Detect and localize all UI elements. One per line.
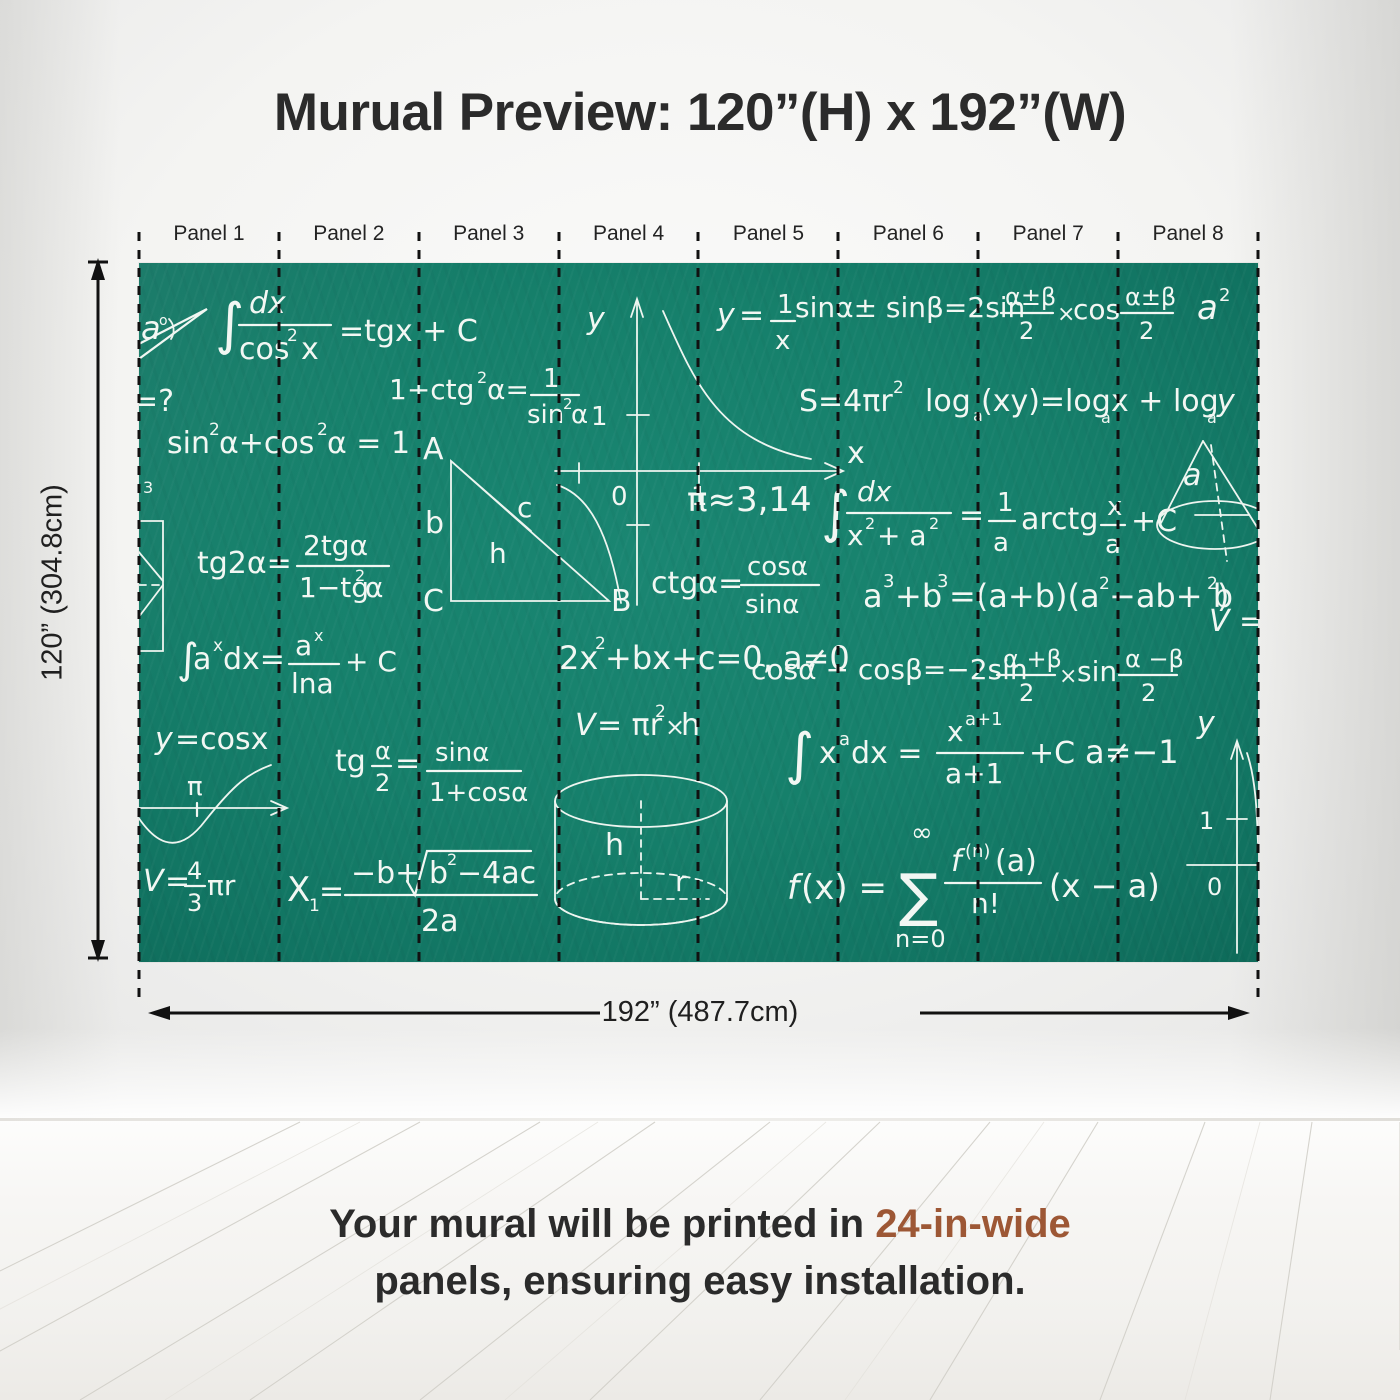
svg-text:a: a (1183, 458, 1201, 493)
svg-text:2: 2 (287, 326, 298, 346)
svg-text:2: 2 (865, 514, 875, 533)
svg-text:α −β: α −β (1125, 645, 1184, 673)
svg-text:tg: tg (335, 744, 366, 779)
svg-text:a: a (141, 309, 161, 347)
height-dimension-label: 120” (304.8cm) (37, 418, 70, 748)
svg-text:∑: ∑ (899, 861, 938, 929)
formula-sum-of-cubes: a 3 +b 3 =(a+b)(a 2 −ab+ b 2 ) (863, 571, 1233, 615)
formula-tangent-double-angle: tg2α= 2tgα 1−tg 2 α (197, 529, 389, 604)
page-title: Murual Preview: 120”(H) x 192”(W) (0, 82, 1400, 143)
svg-text:2: 2 (375, 769, 390, 797)
svg-text:a: a (193, 642, 211, 677)
svg-text:sinα: sinα (745, 590, 799, 620)
figure-right-triangle-abc: A b c h C B (423, 432, 632, 619)
svg-text:x: x (947, 715, 964, 748)
formula-half-angle-tangent: tg α 2 = sinα 1+cosα (335, 737, 528, 808)
svg-text:−4ac: −4ac (457, 856, 536, 891)
svg-text:+ C: + C (345, 645, 397, 678)
svg-text:C: C (423, 584, 444, 619)
figure-hyperbola-graph: y x 1 0 1 y = 1 x (555, 290, 865, 605)
svg-text:2: 2 (1139, 317, 1154, 345)
svg-text:y: y (154, 722, 174, 757)
formula-cosine-function: y =cosx (154, 722, 268, 757)
svg-text:=(a+b)(a: =(a+b)(a (949, 577, 1100, 615)
svg-text:2: 2 (447, 850, 457, 869)
svg-text:y: y (1196, 706, 1216, 741)
svg-text:V: V (143, 864, 166, 899)
svg-text:n=0: n=0 (895, 925, 946, 953)
caption-line-2: panels, ensuring easy installation. (0, 1253, 1400, 1310)
svg-text:n!: n! (971, 887, 1000, 920)
mural-preview-chalkboard: a o =? sin 2 α+cos 2 α = 1 l 3 tg2α= 2tg… (139, 263, 1258, 962)
formula-integral-arctan: ∫ dx x 2 + a 2 = 1 a arctg x a +C (821, 475, 1177, 560)
svg-text:a: a (1101, 408, 1111, 427)
svg-text:y: y (586, 302, 606, 337)
svg-text:x + log: x + log (1111, 384, 1219, 419)
svg-text:f: f (951, 844, 966, 879)
formula-equals-question: =? (139, 384, 174, 419)
wall-shadow-bottom (0, 1028, 1400, 1118)
svg-text:+ a: + a (877, 519, 927, 552)
svg-text:a: a (863, 577, 883, 615)
svg-text:x: x (847, 436, 865, 471)
svg-text:sinα± sinβ=2sin: sinα± sinβ=2sin (795, 291, 1025, 324)
caption-line-1-text: Your mural will be printed in (329, 1202, 875, 1246)
svg-text:2: 2 (355, 566, 365, 585)
svg-text:x: x (847, 519, 864, 552)
svg-text:π: π (187, 772, 203, 802)
svg-text:y: y (1216, 384, 1236, 419)
svg-text:a≠−1: a≠−1 (1085, 733, 1179, 771)
svg-text:log: log (925, 384, 971, 419)
formula-sine-sum-product: sinα± sinβ=2sin α±β 2 × cos α±β 2 a 2 (795, 283, 1230, 345)
svg-text:1: 1 (591, 402, 608, 432)
svg-text:α±β: α±β (1125, 283, 1176, 311)
svg-text:y: y (716, 298, 736, 333)
caption-highlight: 24-in-wide (875, 1202, 1071, 1246)
svg-text:X: X (287, 870, 310, 910)
width-dimension-label: 192” (487.7cm) (0, 996, 1400, 1029)
figure-cylinder: h r (555, 775, 727, 925)
svg-text:c: c (517, 491, 532, 524)
svg-text:sin: sin (167, 426, 210, 461)
svg-text:1: 1 (1199, 807, 1214, 835)
formula-pi-value: π≈3,14 (687, 480, 812, 520)
svg-text:2: 2 (1219, 285, 1230, 306)
svg-text:b: b (425, 506, 444, 541)
svg-text:α: α (375, 737, 391, 765)
svg-text:cos: cos (1073, 293, 1120, 326)
svg-text:∫: ∫ (821, 480, 850, 545)
svg-text:3: 3 (883, 571, 894, 592)
svg-text:+C: +C (1029, 736, 1075, 771)
svg-text:2: 2 (477, 368, 487, 387)
svg-text:cosα − cosβ=−2sin: cosα − cosβ=−2sin (751, 653, 1028, 686)
svg-text:(xy)=log: (xy)=log (981, 384, 1111, 419)
formula-logarithm-product: log a (xy)=log a x + log a y (925, 384, 1236, 427)
svg-text:h: h (681, 708, 700, 743)
svg-text:x: x (213, 636, 223, 656)
svg-text:α: α (365, 571, 383, 604)
formula-integral-exponential: ∫ a x dx= a x lna + C (177, 626, 397, 700)
panel-label-8: Panel 8 (1118, 218, 1258, 250)
panel-label-5: Panel 5 (699, 218, 839, 250)
svg-text:1+ctg: 1+ctg (389, 373, 474, 406)
svg-text:V: V (575, 708, 598, 743)
svg-text:dx: dx (857, 475, 892, 508)
svg-text:=: = (319, 874, 344, 909)
svg-text:ctgα=: ctgα= (651, 566, 743, 601)
svg-text:a: a (1197, 288, 1218, 328)
svg-text:arctg: arctg (1021, 502, 1098, 537)
caption-line-1: Your mural will be printed in 24-in-wide (0, 1196, 1400, 1253)
svg-text:α=: α= (487, 373, 529, 406)
svg-text:α+cos: α+cos (219, 426, 314, 461)
svg-text:(a): (a) (995, 844, 1037, 879)
svg-text:tg2α=: tg2α= (197, 546, 292, 581)
svg-text:0: 0 (1207, 873, 1222, 901)
svg-text:a: a (1207, 408, 1217, 427)
svg-text:dx=: dx= (223, 642, 285, 677)
svg-text:2x: 2x (559, 639, 598, 677)
formula-sphere-surface: S=4πr 2 (799, 378, 904, 419)
svg-text:1: 1 (997, 488, 1014, 518)
svg-text:x: x (819, 736, 837, 771)
svg-text:sin: sin (527, 400, 564, 430)
figure-cosine-curve: π (139, 765, 287, 843)
svg-text:x: x (301, 332, 319, 367)
figure-cone: a (1157, 441, 1258, 561)
formula-pythagorean-identity: sin 2 α+cos 2 α = 1 (167, 420, 410, 461)
figure-prism: l 3 (139, 478, 163, 651)
svg-text:3: 3 (937, 571, 948, 592)
figure-right-edge-graph: y 1 0 (1187, 706, 1258, 953)
formula-cotangent-ratio: ctgα= cosα sinα (651, 552, 819, 620)
footer-caption: Your mural will be printed in 24-in-wide… (0, 1196, 1400, 1310)
svg-text:a+1: a+1 (965, 709, 1003, 730)
svg-text:=: = (959, 498, 984, 533)
svg-text:o: o (159, 313, 168, 329)
panel-label-4: Panel 4 (559, 218, 699, 250)
formula-cotangent-identity: 1+ctg 2 α= 1 sin 2 α (389, 364, 588, 430)
svg-text:=tgx + C: =tgx + C (339, 314, 478, 349)
svg-text:2: 2 (1019, 679, 1034, 707)
svg-text:=cosx: =cosx (175, 722, 268, 757)
svg-text:1+cosα: 1+cosα (429, 778, 528, 808)
formula-quadratic-root: X 1 = −b+ b 2 −4ac 2a (287, 850, 537, 939)
svg-text:(n): (n) (965, 841, 990, 862)
panel-label-1: Panel 1 (139, 218, 279, 250)
svg-text:sinα: sinα (435, 738, 489, 768)
svg-text:h: h (605, 828, 624, 863)
panel-label-7: Panel 7 (978, 218, 1118, 250)
svg-text:a: a (993, 528, 1009, 558)
svg-text:α: α (571, 400, 588, 430)
svg-text:πr: πr (207, 869, 236, 902)
svg-text:dx: dx (249, 286, 286, 321)
panel-label-2: Panel 2 (279, 218, 419, 250)
svg-text:(x) =: (x) = (801, 868, 887, 908)
svg-text:∞: ∞ (911, 818, 933, 848)
formula-sphere-volume: V = 4 3 πr (143, 857, 236, 917)
svg-text:1: 1 (543, 364, 560, 394)
svg-text:x: x (1107, 492, 1122, 522)
svg-text:2: 2 (893, 378, 904, 398)
svg-text:2: 2 (1019, 317, 1034, 345)
svg-text:∫: ∫ (785, 722, 814, 787)
svg-text:cosα: cosα (747, 552, 808, 582)
svg-text:(x − a): (x − a) (1049, 867, 1160, 905)
svg-text:= πr: = πr (597, 708, 663, 743)
formula-taylor-series: f (x) = ∑ ∞ n=0 f (n) (a) n! (x − a) (787, 818, 1160, 953)
svg-text:r: r (675, 865, 687, 898)
svg-text:sin: sin (1077, 655, 1117, 688)
formula-volume-v: V = (1209, 604, 1258, 639)
chalkboard-formula-artwork: a o =? sin 2 α+cos 2 α = 1 l 3 tg2α= 2tg… (139, 263, 1258, 962)
panel-label-6: Panel 6 (838, 218, 978, 250)
svg-text:a: a (295, 629, 312, 662)
panel-label-row: Panel 1 Panel 2 Panel 3 Panel 4 Panel 5 … (139, 218, 1258, 250)
svg-text:4: 4 (187, 857, 202, 885)
svg-text:A: A (423, 432, 444, 467)
svg-text:×: × (1059, 664, 1077, 689)
svg-text:2: 2 (1141, 679, 1156, 707)
svg-text:+b: +b (895, 577, 942, 615)
svg-text:2: 2 (929, 514, 939, 533)
svg-text:S=4πr: S=4πr (799, 384, 893, 419)
svg-text:2a: 2a (421, 904, 458, 939)
svg-text:x: x (775, 326, 790, 356)
svg-text:cos: cos (239, 332, 289, 367)
svg-text:h: h (489, 537, 507, 570)
formula-integral-power-rule: ∫ x a dx = x a+1 a+1 +C a≠−1 (785, 709, 1179, 790)
svg-text:a: a (839, 729, 850, 750)
svg-text:3: 3 (187, 889, 202, 917)
formula-integral-sec-squared: ∫ dx cos 2 x =tgx + C (215, 286, 478, 367)
svg-text:2tgα: 2tgα (303, 529, 368, 562)
svg-text:3: 3 (143, 478, 153, 497)
svg-text:α = 1: α = 1 (327, 426, 410, 461)
panel-label-3: Panel 3 (419, 218, 559, 250)
svg-text:a+1: a+1 (945, 757, 1003, 790)
svg-text:1: 1 (777, 290, 794, 320)
svg-text:b: b (429, 856, 448, 891)
svg-text:lna: lna (291, 667, 334, 700)
svg-text:a: a (1105, 530, 1121, 560)
svg-text:=: = (739, 298, 764, 333)
svg-text:α +β: α +β (1003, 645, 1062, 673)
svg-text:0: 0 (611, 482, 628, 512)
svg-text:α±β: α±β (1005, 283, 1056, 311)
svg-text:dx =: dx = (851, 736, 922, 771)
formula-cylinder-volume: V = πr 2 × h (575, 702, 700, 743)
figure-angle-triangle: a o (139, 309, 207, 375)
svg-text:=: = (395, 746, 420, 781)
formula-cosine-difference: cosα − cosβ=−2sin α +β 2 × sin α −β 2 (751, 645, 1184, 707)
svg-text:x: x (314, 626, 323, 645)
